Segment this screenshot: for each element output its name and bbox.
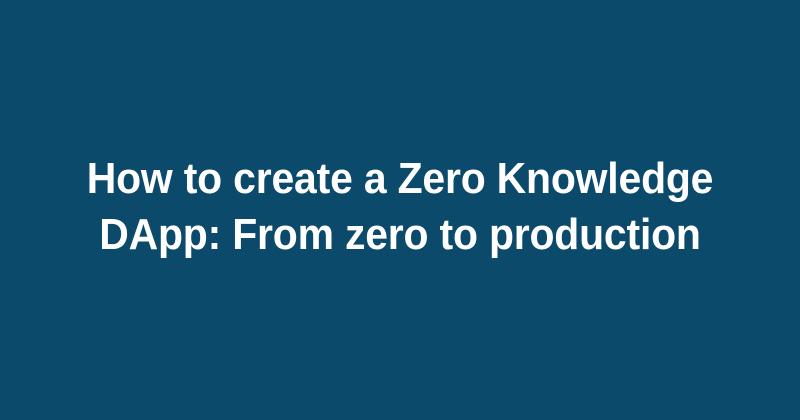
hero-card: How to create a Zero Knowledge DApp: Fro… (0, 0, 800, 420)
title-line-2: DApp: From zero to production (65, 207, 735, 263)
title-line-1: How to create a Zero Knowledge (65, 151, 735, 207)
page-title: How to create a Zero Knowledge DApp: Fro… (0, 151, 800, 263)
